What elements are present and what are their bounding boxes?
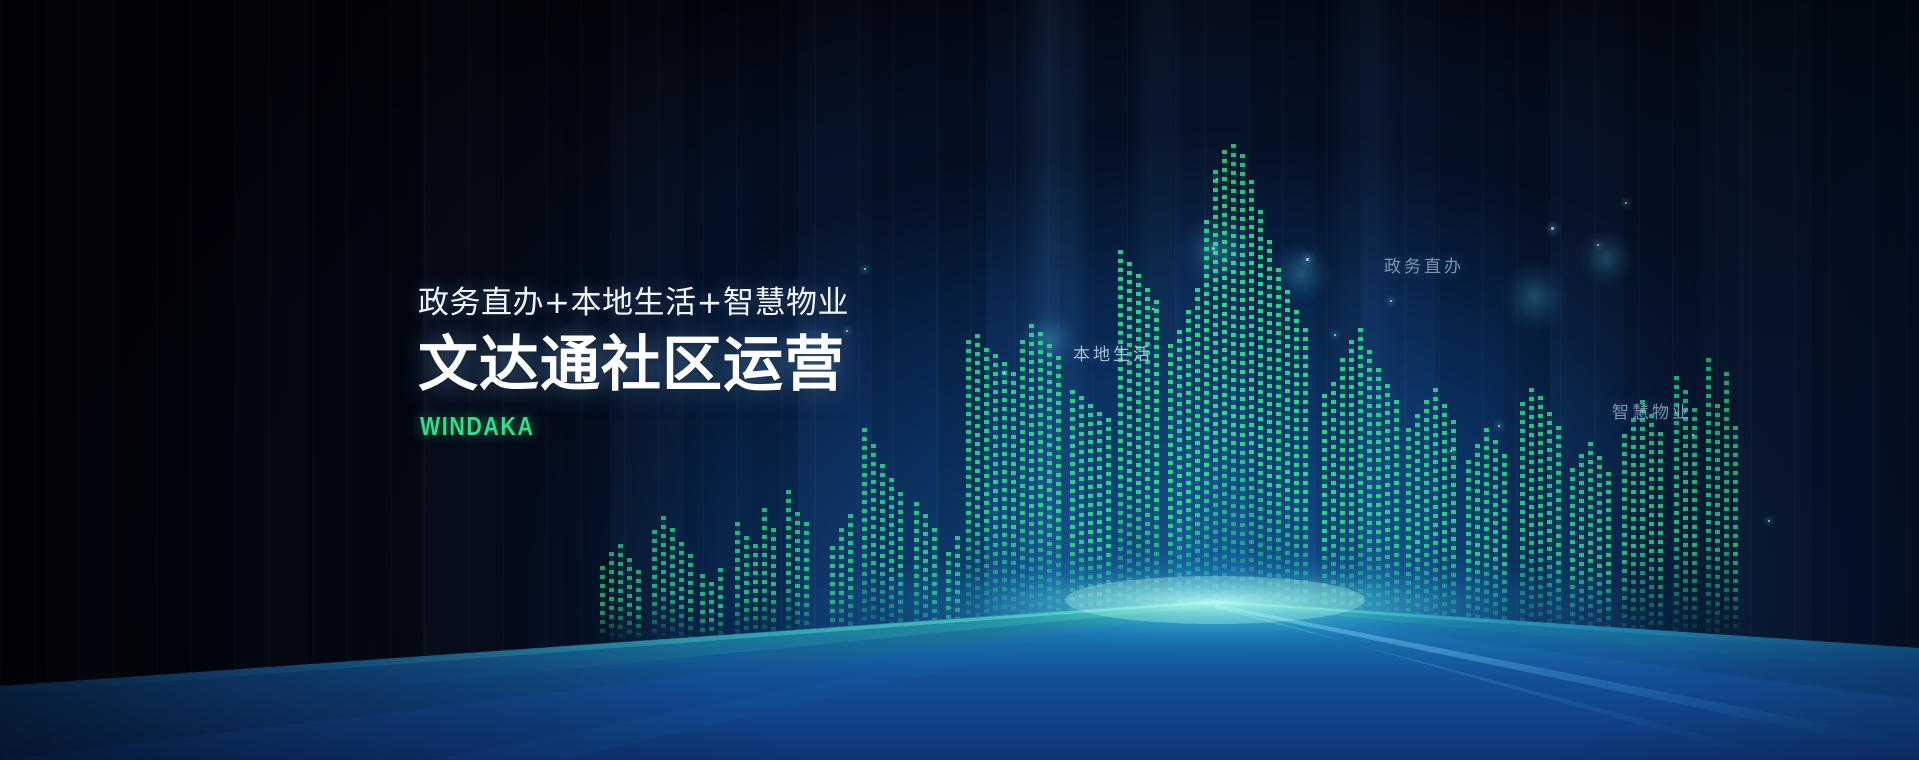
sparkle-particle	[1625, 202, 1627, 204]
sparkle-particle	[1390, 300, 1392, 302]
city-dot-column	[652, 530, 657, 640]
city-dot-column	[1213, 170, 1218, 640]
city-dot-column	[609, 552, 614, 640]
city-dot-column	[839, 528, 844, 640]
city-dot-column	[1502, 454, 1507, 640]
hero-subtitle: 政务直办+本地生活+智慧物业	[418, 288, 849, 319]
city-dot-column	[1258, 210, 1263, 640]
city-dot-column	[923, 514, 928, 640]
city-dot-column	[1424, 400, 1429, 640]
city-dot-column	[627, 558, 632, 640]
city-dot-column	[1231, 144, 1236, 640]
city-dot-column	[1715, 404, 1720, 640]
sparkle-particle	[1212, 247, 1215, 250]
city-dot-column	[880, 464, 885, 640]
city-dot-column	[1070, 390, 1075, 640]
city-dot-column	[600, 566, 605, 640]
city-dot-column	[1186, 310, 1191, 640]
sparkle-particle	[1334, 334, 1336, 336]
city-dot-column	[1484, 428, 1489, 640]
city-dot-column	[1249, 180, 1254, 640]
city-dot-column	[1106, 418, 1111, 640]
city-dot-column	[795, 512, 800, 640]
city-dot-column	[1493, 440, 1498, 640]
city-dot-column	[1177, 330, 1182, 640]
city-dot-column	[1579, 454, 1584, 640]
city-dot-column	[688, 554, 693, 640]
sparkle-particle	[1003, 372, 1005, 374]
sparkle-particle	[1498, 425, 1500, 427]
city-dot-column	[1118, 250, 1123, 640]
hero-title: 文达通社区运营	[418, 335, 849, 395]
city-dot-column	[914, 502, 919, 640]
city-dot-column	[1385, 384, 1390, 640]
city-dot-column	[1349, 340, 1354, 640]
city-dot-column	[1047, 344, 1052, 640]
city-dot-column	[1529, 388, 1534, 640]
sparkle-particle	[1597, 244, 1599, 246]
city-dot-column	[1097, 412, 1102, 640]
city-dot-column	[1079, 396, 1084, 640]
city-dot-column	[1276, 268, 1281, 640]
city-dot-column	[1088, 404, 1093, 640]
city-dot-column	[1322, 394, 1327, 640]
city-label-smart-property: 智慧物业	[1612, 398, 1692, 423]
city-dot-column	[1222, 150, 1227, 640]
city-dot-column	[862, 428, 867, 640]
city-dot-column	[993, 354, 998, 640]
sparkle-particle	[864, 268, 866, 270]
city-dot-column	[932, 528, 937, 640]
city-dot-column	[1394, 400, 1399, 640]
city-dot-column	[762, 508, 767, 640]
city-dot-column	[1029, 324, 1034, 640]
city-dot-column	[679, 542, 684, 640]
city-dot-column	[1358, 328, 1363, 640]
dot-matrix-city-skyline	[0, 0, 1919, 640]
city-dot-column	[618, 544, 623, 640]
sparkle-particle	[1306, 258, 1309, 261]
sparkle-particle	[1768, 520, 1770, 522]
city-dot-column	[1331, 382, 1336, 640]
city-dot-column	[1267, 240, 1272, 640]
city-dot-column	[1056, 356, 1061, 640]
city-dot-column	[1020, 340, 1025, 640]
city-dot-column	[1367, 350, 1372, 640]
city-dot-column	[670, 528, 675, 640]
city-dot-column	[830, 546, 835, 640]
city-dot-column	[1451, 420, 1456, 640]
city-dot-column	[1376, 368, 1381, 640]
sparkle-particle	[1216, 178, 1218, 180]
city-dot-column	[1168, 344, 1173, 640]
city-dot-column	[1127, 262, 1132, 640]
city-dot-column	[1466, 460, 1471, 640]
city-dot-column	[1658, 432, 1663, 640]
city-dot-column	[946, 552, 951, 640]
city-dot-column	[786, 490, 791, 640]
sparkle-particle	[1450, 450, 1452, 452]
city-dot-column	[1556, 426, 1561, 640]
hero-text-block: 政务直办+本地生活+智慧物业 文达通社区运营 WINDAKA	[418, 288, 849, 442]
city-dot-column	[1195, 288, 1200, 640]
city-dot-column	[1406, 428, 1411, 640]
city-dot-column	[636, 570, 641, 640]
city-dot-column	[1520, 402, 1525, 640]
city-dot-column	[744, 536, 749, 640]
city-dot-column	[848, 514, 853, 640]
city-dot-column	[1204, 220, 1209, 640]
city-dot-column	[1570, 468, 1575, 640]
city-label-government: 政务直办	[1384, 252, 1464, 277]
city-dot-column	[718, 568, 723, 640]
city-dot-column	[1433, 388, 1438, 640]
city-dot-column	[1136, 274, 1141, 640]
city-dot-column	[753, 544, 758, 640]
city-dot-column	[1240, 154, 1245, 640]
city-dot-column	[1649, 414, 1654, 640]
sparkle-particle	[1551, 227, 1554, 230]
city-dot-column	[1303, 328, 1308, 640]
city-label-local-life: 本地生活	[1073, 340, 1153, 365]
city-dot-column	[1706, 358, 1711, 640]
banner-hero: 政务直办 本地生活 智慧物业 政务直办+本地生活+智慧物业 文达通社区运营 WI…	[0, 0, 1919, 760]
city-dot-column	[709, 582, 714, 640]
sparkle-particle	[1152, 308, 1154, 310]
city-dot-column	[1442, 404, 1447, 640]
city-dot-column	[975, 334, 980, 640]
city-dot-column	[966, 340, 971, 640]
city-dot-column	[1733, 426, 1738, 640]
city-dot-column	[871, 444, 876, 640]
city-dot-column	[1475, 444, 1480, 640]
city-dot-column	[735, 522, 740, 640]
city-dot-column	[771, 528, 776, 640]
city-dot-column	[1588, 442, 1593, 640]
city-dot-column	[1038, 332, 1043, 640]
city-dot-column	[955, 536, 960, 640]
city-dot-column	[889, 478, 894, 640]
city-dot-column	[1415, 414, 1420, 640]
city-dot-column	[1724, 372, 1729, 640]
city-dot-column	[1011, 372, 1016, 640]
brand-wordmark: WINDAKA	[420, 411, 772, 442]
city-dot-column	[1285, 290, 1290, 640]
city-dot-column	[1597, 456, 1602, 640]
city-dot-column	[984, 348, 989, 640]
city-dot-column	[1606, 472, 1611, 640]
city-dot-column	[1294, 310, 1299, 640]
sparkle-particle	[1692, 434, 1694, 436]
city-dot-column	[1631, 418, 1636, 640]
city-dot-column	[1640, 400, 1645, 640]
city-dot-column	[898, 492, 903, 640]
city-dot-column	[700, 574, 705, 640]
city-dot-column	[1683, 390, 1688, 640]
city-dot-column	[1340, 358, 1345, 640]
city-dot-column	[1002, 362, 1007, 640]
city-dot-column	[1538, 396, 1543, 640]
city-dot-column	[1692, 408, 1697, 640]
city-dot-column	[1547, 412, 1552, 640]
city-dot-column	[1154, 300, 1159, 640]
city-dot-column	[661, 516, 666, 640]
city-dot-column	[804, 522, 809, 640]
city-dot-column	[1622, 434, 1627, 640]
